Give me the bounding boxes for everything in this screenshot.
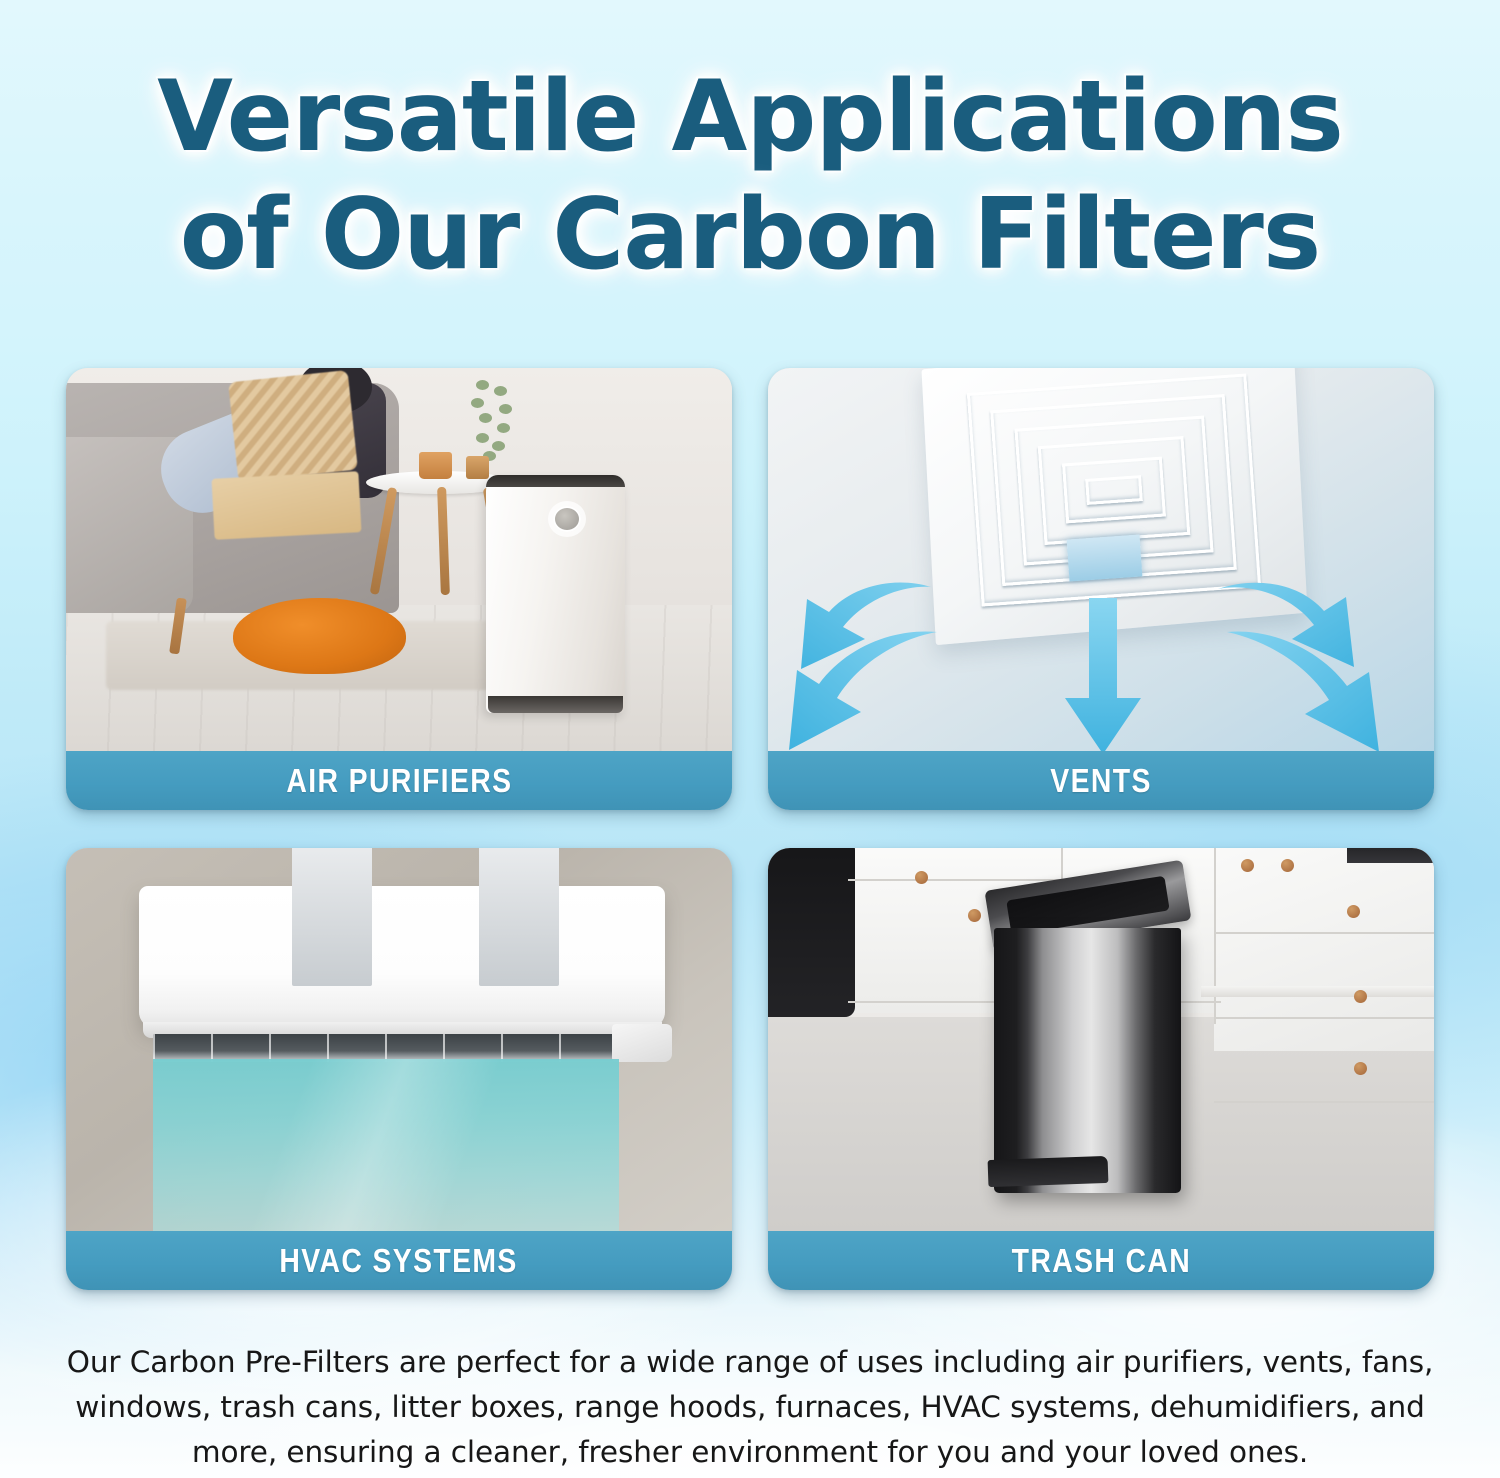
dark-appliance [768, 848, 855, 1017]
caption-bar-hvac-systems: HVAC SYSTEMS [66, 1231, 732, 1290]
caption-bar-vents: VENTS [768, 751, 1434, 810]
ac-side-cap [612, 1024, 672, 1062]
card-vents: VENTS [768, 368, 1434, 810]
caption-bar-trash-can: TRASH CAN [768, 1231, 1434, 1290]
vent-center-opening [1066, 534, 1142, 581]
throw-blanket [211, 471, 361, 540]
mini-split-ac-illustration [66, 848, 732, 1231]
page-title-line-2: of Our Carbon Filters [0, 176, 1500, 294]
photo-trash-can [768, 848, 1434, 1231]
infographic-root: Versatile Applications of Our Carbon Fil… [0, 0, 1500, 1478]
photo-hvac-systems [66, 848, 732, 1231]
trash-can-lid-inner [1006, 876, 1169, 935]
air-purifier-base [488, 696, 622, 713]
coffee-cup [419, 452, 452, 479]
page-title: Versatile Applications of Our Carbon Fil… [0, 58, 1500, 294]
ac-outlet-louvers [153, 1034, 619, 1063]
air-purifier-power-button [553, 506, 581, 532]
trash-can-body [994, 928, 1180, 1192]
caption-label: HVAC SYSTEMS [280, 1242, 518, 1280]
ac-air-outlet [153, 1034, 619, 1063]
orange-floor-cushion [233, 598, 406, 675]
air-purifier-unit [486, 475, 626, 712]
card-air-purifiers: AIR PURIFIERS [66, 368, 732, 810]
description-line-2: windows, trash cans, litter boxes, range… [50, 1385, 1450, 1430]
airflow-arrow-center-down [1061, 598, 1145, 751]
photo-air-purifiers [66, 368, 732, 751]
caption-label: TRASH CAN [1011, 1242, 1191, 1280]
ceiling-vent-illustration [768, 368, 1434, 751]
small-vase [466, 456, 489, 479]
trash-can-foot-pedal [987, 1156, 1108, 1187]
description-line-3: more, ensuring a cleaner, fresher enviro… [50, 1430, 1450, 1475]
card-hvac-systems: HVAC SYSTEMS [66, 848, 732, 1290]
ac-deflector-flap [479, 848, 559, 986]
kitchen-illustration [768, 848, 1434, 1231]
ac-deflector-flap [292, 848, 372, 986]
card-trash-can: TRASH CAN [768, 848, 1434, 1290]
right-cabinet-toe-kick [1201, 986, 1434, 997]
airflow-arrow-left-down [781, 628, 941, 751]
living-room-illustration [66, 368, 732, 751]
right-cabinets [1214, 848, 1434, 1051]
airflow-arrow-right-down [1221, 628, 1386, 751]
patterned-cushion [228, 370, 358, 482]
potted-plant [452, 376, 532, 476]
cool-air-stream [153, 1059, 619, 1231]
caption-label: AIR PURIFIERS [286, 762, 512, 800]
photo-vents [768, 368, 1434, 751]
description-paragraph: Our Carbon Pre-Filters are perfect for a… [50, 1340, 1450, 1475]
page-title-line-1: Versatile Applications [0, 58, 1500, 176]
ac-front-panel [139, 886, 665, 1028]
right-countertop [1347, 848, 1434, 863]
caption-label: VENTS [1050, 762, 1152, 800]
application-card-grid: AIR PURIFIERS [66, 368, 1434, 1290]
caption-bar-air-purifiers: AIR PURIFIERS [66, 751, 732, 810]
description-line-1: Our Carbon Pre-Filters are perfect for a… [50, 1340, 1450, 1385]
air-purifier-top-vent [486, 475, 626, 487]
